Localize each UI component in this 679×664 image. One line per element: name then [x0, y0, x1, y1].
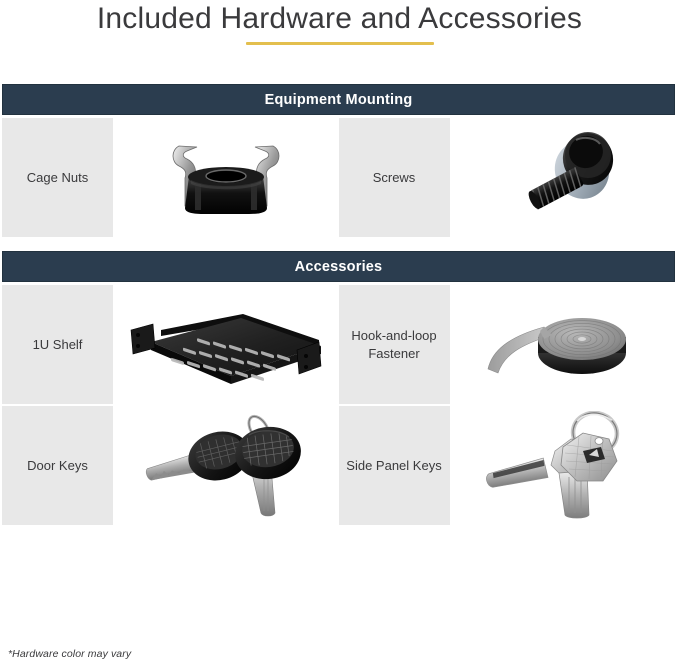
table-cell-pair: Door Keys	[2, 406, 339, 525]
silver-keys-icon	[467, 411, 657, 521]
item-image-hook-and-loop-fastener	[450, 285, 676, 404]
table-row: Door Keys	[2, 406, 675, 525]
screw-icon	[498, 126, 626, 230]
title-accent-rule	[246, 42, 434, 45]
cage-nut-icon	[151, 128, 301, 228]
item-label-hook-and-loop-fastener: Hook-and-loop Fastener	[339, 285, 450, 404]
footnote: *Hardware color may vary	[8, 648, 131, 660]
section-header-accessories: Accessories	[2, 251, 675, 282]
item-image-cage-nuts	[113, 118, 339, 237]
item-image-side-panel-keys	[450, 406, 676, 525]
item-label-screws: Screws	[339, 118, 450, 237]
item-label-side-panel-keys: Side Panel Keys	[339, 406, 450, 525]
page-header: Included Hardware and Accessories	[0, 0, 679, 45]
item-label-cage-nuts: Cage Nuts	[2, 118, 113, 237]
hardware-table: Equipment Mounting Cage Nuts	[2, 84, 675, 525]
table-row: Cage Nuts	[2, 118, 675, 237]
item-label-1u-shelf: 1U Shelf	[2, 285, 113, 404]
table-row: 1U Shelf	[2, 285, 675, 404]
table-cell-pair: Cage Nuts	[2, 118, 339, 237]
rack-shelf-icon	[123, 296, 328, 394]
table-cell-pair: Hook-and-loop Fastener	[339, 285, 676, 404]
item-image-door-keys	[113, 406, 339, 525]
black-keys-icon	[131, 411, 321, 521]
table-cell-pair: Screws	[339, 118, 676, 237]
velcro-roll-icon	[482, 297, 642, 393]
section-header-equipment-mounting: Equipment Mounting	[2, 84, 675, 115]
table-cell-pair: Side Panel Keys	[339, 406, 676, 525]
table-cell-pair: 1U Shelf	[2, 285, 339, 404]
item-image-1u-shelf	[113, 285, 339, 404]
item-label-door-keys: Door Keys	[2, 406, 113, 525]
page-title: Included Hardware and Accessories	[0, 2, 679, 36]
item-image-screws	[450, 118, 676, 237]
